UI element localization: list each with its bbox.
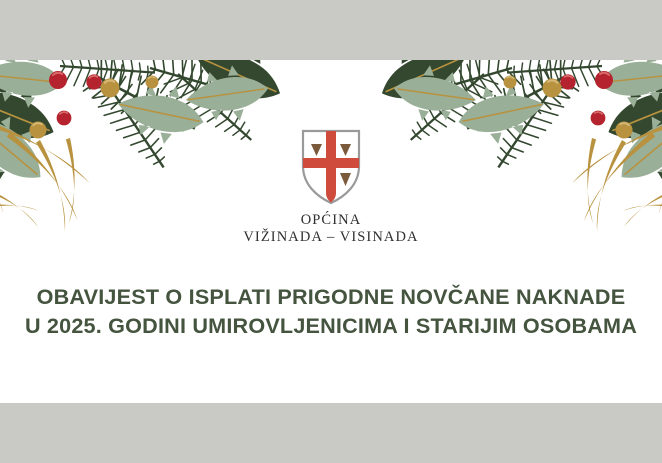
letterbox-bar-bottom (0, 403, 662, 463)
crest-block: OPĆINA VIŽINADA – VISINADA (0, 128, 662, 246)
letterbox-bar-top (0, 0, 662, 60)
municipality-line1: OPĆINA (243, 212, 418, 229)
coat-of-arms-shield-icon (300, 128, 362, 206)
heading-line-1: OBAVIJEST O ISPLATI PRIGODNE NOVČANE NAK… (0, 282, 662, 311)
poster-canvas: OPĆINA VIŽINADA – VISINADA OBAVIJEST O I… (0, 60, 662, 403)
municipality-name: OPĆINA VIŽINADA – VISINADA (243, 212, 418, 246)
heading-line-2: U 2025. GODINI UMIROVLJENICIMA I STARIJI… (0, 311, 662, 340)
announcement-heading: OBAVIJEST O ISPLATI PRIGODNE NOVČANE NAK… (0, 282, 662, 340)
municipality-line2: VIŽINADA – VISINADA (243, 229, 418, 246)
poster-stage: OPĆINA VIŽINADA – VISINADA OBAVIJEST O I… (0, 0, 662, 463)
